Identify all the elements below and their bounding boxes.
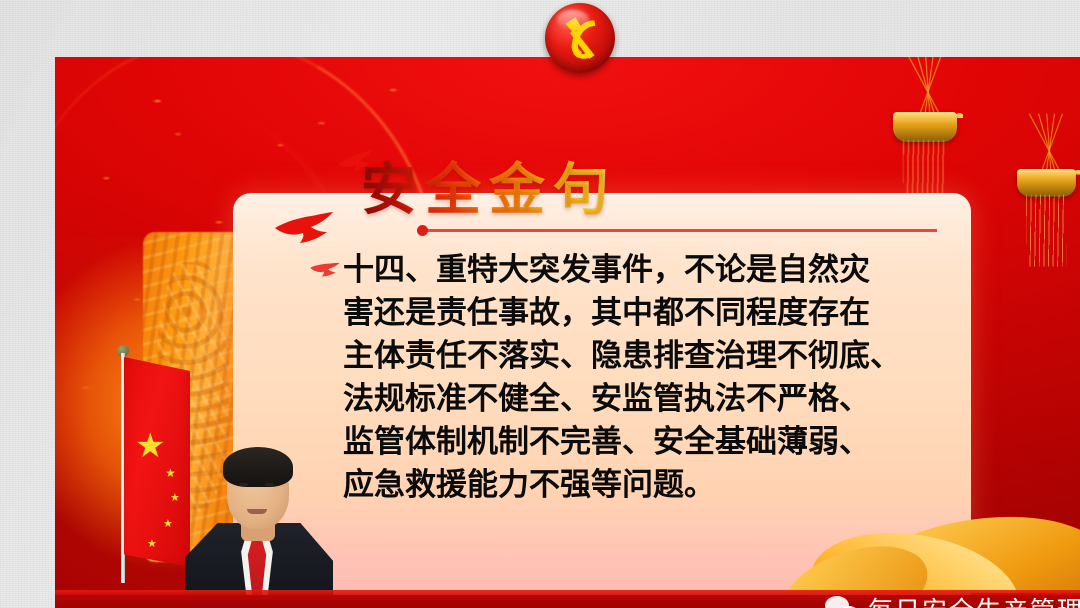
lantern-cap-icon [893, 112, 957, 142]
body-line: 法规标准不健全、安监管执法不严格、 [343, 378, 983, 421]
slide-canvas: ★ ★ ★ ★ ★ [0, 0, 1080, 608]
page-title: 安全金句 [361, 145, 617, 226]
portrait-eyebrow [263, 477, 275, 480]
body-text-block: 十四、重特大突发事件，不论是自然灾 害还是责任事故，其中都不同程度存在 主体责任… [343, 249, 983, 507]
portrait-eye [239, 483, 248, 486]
lantern-tassel-icon [1026, 195, 1066, 267]
watermark: 每日安全生产管理 [825, 591, 1080, 608]
flag-star-small-icon: ★ [165, 467, 176, 479]
flag-star-small-icon: ★ [163, 519, 173, 530]
title-rule-line [425, 229, 937, 232]
emblem-gloss [557, 10, 589, 30]
wechat-icon [825, 596, 859, 608]
portrait-eye [265, 483, 274, 486]
flag-star-large-icon: ★ [135, 429, 165, 463]
red-dove-icon [308, 260, 346, 281]
cpc-hammer-sickle-emblem-icon [545, 3, 615, 73]
body-line: 害还是责任事故，其中都不同程度存在 [343, 292, 983, 335]
body-line: 主体责任不落实、隐患排查治理不彻底、 [343, 335, 983, 378]
leader-portrait [183, 439, 333, 608]
body-line: 监管体制机制不完善、安全基础薄弱、 [343, 421, 983, 464]
portrait-hair [223, 447, 293, 487]
flag-star-small-icon: ★ [170, 493, 180, 504]
title-rule-dot [417, 225, 428, 236]
portrait-eyebrow [237, 477, 249, 480]
body-line: 十四、重特大突发事件，不论是自然灾 [343, 249, 983, 292]
watermark-label: 每日安全生产管理 [868, 591, 1080, 608]
portrait-mouth [247, 509, 267, 514]
flag-star-small-icon: ★ [147, 539, 157, 550]
lantern-cap-icon [1017, 169, 1076, 197]
presentation-slide: ★ ★ ★ ★ ★ [55, 57, 1080, 608]
body-line: 应急救援能力不强等问题。 [343, 464, 983, 507]
golden-ribbon-swirl-icon [750, 497, 1080, 593]
red-dove-icon [273, 212, 345, 246]
